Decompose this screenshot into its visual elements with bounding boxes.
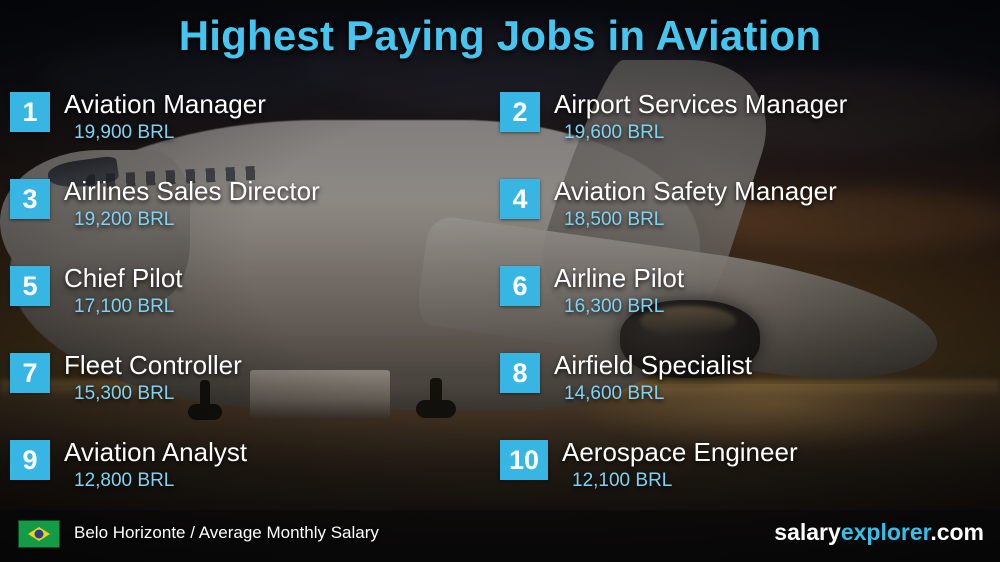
list-item[interactable]: 10 Aerospace Engineer 12,100 BRL bbox=[500, 434, 1000, 521]
rank-badge: 10 bbox=[500, 440, 548, 480]
infographic-page: Highest Paying Jobs in Aviation 1 Aviati… bbox=[0, 0, 1000, 562]
job-title: Fleet Controller bbox=[64, 350, 242, 381]
brand-part-explorer: explorer bbox=[841, 519, 931, 545]
job-salary: 19,900 BRL bbox=[74, 122, 174, 144]
rank-badge: 2 bbox=[500, 92, 540, 132]
page-title: Highest Paying Jobs in Aviation bbox=[0, 12, 1000, 60]
job-title: Chief Pilot bbox=[64, 263, 183, 294]
job-salary: 14,600 BRL bbox=[564, 383, 664, 405]
job-salary: 19,600 BRL bbox=[564, 122, 664, 144]
flag-globe-shape bbox=[35, 530, 44, 539]
list-item[interactable]: 1 Aviation Manager 19,900 BRL bbox=[10, 86, 510, 173]
job-salary: 17,100 BRL bbox=[74, 296, 174, 318]
footer-caption: Belo Horizonte / Average Monthly Salary bbox=[74, 523, 379, 543]
list-item[interactable]: 3 Airlines Sales Director 19,200 BRL bbox=[10, 173, 510, 260]
footer-bar: Belo Horizonte / Average Monthly Salary … bbox=[0, 510, 1000, 562]
list-item[interactable]: 2 Airport Services Manager 19,600 BRL bbox=[500, 86, 1000, 173]
brand-part-domain: .com bbox=[930, 519, 984, 545]
rank-badge: 7 bbox=[10, 353, 50, 393]
list-item[interactable]: 5 Chief Pilot 17,100 BRL bbox=[10, 260, 510, 347]
job-title: Aerospace Engineer bbox=[562, 437, 798, 468]
rank-badge: 5 bbox=[10, 266, 50, 306]
job-salary: 19,200 BRL bbox=[74, 209, 174, 231]
content-layer: Highest Paying Jobs in Aviation 1 Aviati… bbox=[0, 0, 1000, 562]
list-item[interactable]: 4 Aviation Safety Manager 18,500 BRL bbox=[500, 173, 1000, 260]
job-title: Aviation Safety Manager bbox=[554, 176, 837, 207]
job-title: Airport Services Manager bbox=[554, 89, 847, 120]
rank-badge: 4 bbox=[500, 179, 540, 219]
list-item[interactable]: 6 Airline Pilot 16,300 BRL bbox=[500, 260, 1000, 347]
rank-badge: 8 bbox=[500, 353, 540, 393]
job-salary: 18,500 BRL bbox=[564, 209, 664, 231]
job-title: Airfield Specialist bbox=[554, 350, 752, 381]
job-title: Aviation Analyst bbox=[64, 437, 247, 468]
job-salary: 12,100 BRL bbox=[572, 470, 672, 492]
rank-badge: 6 bbox=[500, 266, 540, 306]
job-column-right: 2 Airport Services Manager 19,600 BRL 4 … bbox=[500, 86, 1000, 521]
job-salary: 12,800 BRL bbox=[74, 470, 174, 492]
job-title: Aviation Manager bbox=[64, 89, 266, 120]
job-salary: 16,300 BRL bbox=[564, 296, 664, 318]
brand-logo[interactable]: salaryexplorer.com bbox=[774, 519, 984, 546]
brand-part-salary: salary bbox=[774, 519, 841, 545]
job-title: Airlines Sales Director bbox=[64, 176, 320, 207]
rank-badge: 3 bbox=[10, 179, 50, 219]
list-item[interactable]: 9 Aviation Analyst 12,800 BRL bbox=[10, 434, 510, 521]
rank-badge: 9 bbox=[10, 440, 50, 480]
job-column-left: 1 Aviation Manager 19,900 BRL 3 Airlines… bbox=[10, 86, 510, 521]
brazil-flag-icon bbox=[18, 520, 60, 548]
rank-badge: 1 bbox=[10, 92, 50, 132]
job-title: Airline Pilot bbox=[554, 263, 684, 294]
list-item[interactable]: 8 Airfield Specialist 14,600 BRL bbox=[500, 347, 1000, 434]
list-item[interactable]: 7 Fleet Controller 15,300 BRL bbox=[10, 347, 510, 434]
job-salary: 15,300 BRL bbox=[74, 383, 174, 405]
